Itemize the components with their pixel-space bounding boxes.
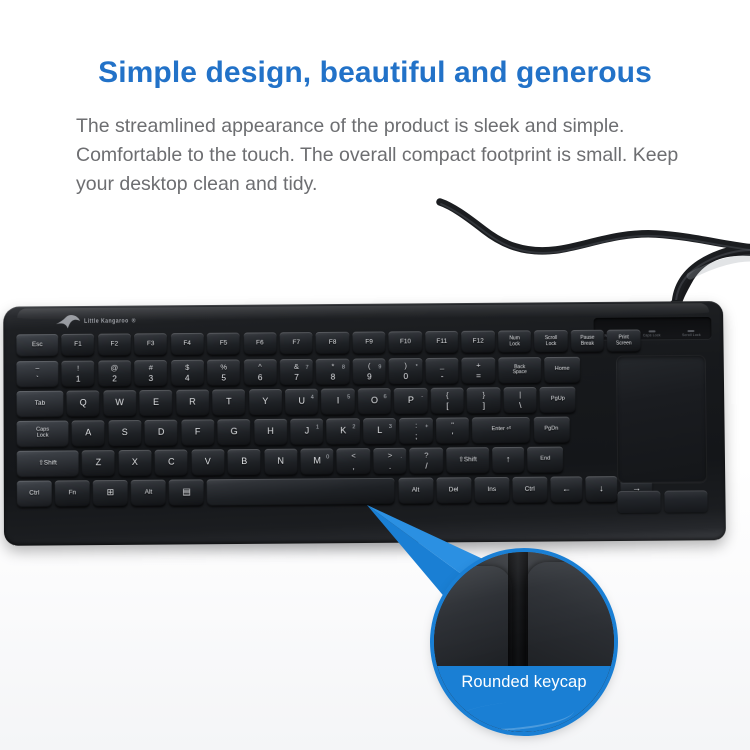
key-legend: Tab — [35, 401, 45, 408]
key-legend-upper: @ — [111, 365, 119, 373]
key-row-shift-row: ⇧ShiftZXCVBNM0<,>..?/⇧Shift↑End — [17, 446, 613, 478]
key-legend-lower: 1 — [76, 375, 81, 384]
key-4[interactable]: $4 — [171, 359, 204, 386]
key-ctrl[interactable]: Ctrl — [512, 476, 547, 503]
key-legend-upper: ? — [424, 452, 428, 460]
key-numpad-legend: 1 — [316, 425, 319, 431]
key-5[interactable]: %5 — [207, 359, 240, 386]
key-legend: V — [205, 458, 211, 467]
key-o[interactable]: O6 — [358, 388, 392, 415]
key-legend: Alt — [145, 489, 153, 496]
key-alt[interactable]: Alt — [398, 477, 433, 504]
brand-logo: Little Kangaroo ® — [55, 314, 136, 330]
key--[interactable]: _- — [425, 357, 459, 384]
key-legend: F2 — [111, 342, 119, 349]
key-pgup[interactable]: PgUp — [540, 386, 576, 413]
key-legend-upper: + — [476, 362, 481, 370]
key-legend: F5 — [220, 341, 228, 348]
key-s[interactable]: S — [108, 420, 141, 447]
key-enter-⏎[interactable]: Enter ⏎ — [472, 417, 530, 444]
key-legend-upper: $ — [185, 364, 189, 372]
key-legend-lower: 2 — [112, 374, 117, 383]
key-row-bottom-row: CtrlFn⊞Alt▤AltDelInsCtrl←↓→ — [17, 476, 613, 508]
key-legend-lower: \ — [519, 401, 521, 410]
led-indicator: Caps Lock — [643, 330, 661, 338]
key-legend: Home — [555, 367, 570, 373]
key-legend-upper: ) — [404, 363, 407, 371]
key-legend: K — [340, 427, 346, 436]
key-legend: ← — [562, 485, 571, 494]
key-legend: B — [241, 457, 247, 466]
key-row-number-row: ~`!1@2#3$4%5^6&77*88(99)0*_-+=Back Space… — [16, 356, 611, 388]
key-legend: PgDn — [544, 427, 558, 433]
page-body-text: The streamlined appearance of the produc… — [76, 112, 686, 199]
key-legend: N — [277, 457, 284, 466]
key-6[interactable]: ^6 — [243, 359, 276, 386]
key-legend: ▤ — [182, 488, 191, 497]
key-g[interactable]: G — [217, 419, 251, 446]
key-numpad-legend: 5 — [347, 395, 350, 401]
key-legend: M — [313, 457, 321, 466]
key-/[interactable]: ?/ — [410, 447, 444, 474]
key-legend: T — [226, 398, 232, 407]
key-legend: ↓ — [599, 485, 604, 494]
key-legend: Back Space — [513, 365, 527, 376]
magnifier-callout: Rounded keycap — [434, 552, 614, 732]
key-f8[interactable]: F8 — [316, 332, 349, 355]
key-numpad-legend: * — [416, 365, 418, 371]
key-legend: X — [132, 458, 138, 467]
key-print-screen[interactable]: Print Screen — [607, 329, 641, 352]
key-legend: F3 — [147, 341, 155, 348]
key-=[interactable]: += — [462, 357, 496, 384]
space-bar[interactable] — [207, 477, 395, 505]
key-legend-lower: 0 — [403, 372, 408, 381]
key-legend: F11 — [436, 339, 447, 346]
key-numpad-legend: 4 — [311, 395, 314, 401]
led-lamp-caps-lock — [648, 330, 655, 333]
key-legend-lower: 6 — [258, 373, 263, 382]
key-n[interactable]: N — [264, 448, 298, 475]
key-x[interactable]: X — [118, 449, 151, 476]
key-y[interactable]: Y — [249, 389, 283, 416]
key-legend: C — [168, 458, 175, 467]
key-numpad-legend: 6 — [384, 395, 387, 401]
key-←[interactable]: ← — [550, 476, 582, 503]
key-row-function-row: EscF1F2F3F4F5F6F7F8F9F10F11F12Num LockSc… — [16, 330, 611, 358]
key-legend: ⊞ — [107, 488, 115, 497]
led-indicator: Scroll Lock — [682, 329, 701, 337]
key-1[interactable]: !1 — [61, 360, 94, 387]
key-legend: Y — [262, 397, 268, 406]
keyboard-chassis: Little Kangaroo ® Num Lock Caps Lock — [3, 301, 726, 546]
key-i[interactable]: I5 — [321, 388, 355, 415]
key-del[interactable]: Del — [436, 477, 471, 504]
key-f4[interactable]: F4 — [170, 333, 203, 356]
key-legend: Ins — [487, 487, 496, 494]
key-legend: Del — [449, 487, 459, 494]
key-legend: Alt — [412, 487, 420, 494]
key-legend-upper: _ — [440, 362, 444, 370]
key-num-lock[interactable]: Num Lock — [498, 330, 532, 353]
key-legend-lower: ; — [415, 432, 417, 441]
key-q[interactable]: Q — [66, 390, 99, 417]
key-legend: D — [158, 428, 165, 437]
key-legend-lower: ` — [36, 375, 39, 384]
key-legend: PgUp — [551, 397, 565, 403]
key-f5[interactable]: F5 — [207, 333, 240, 356]
brand-name: Little Kangaroo — [84, 318, 129, 325]
key-f3[interactable]: F3 — [134, 333, 167, 356]
key-numpad-legend: 8 — [342, 365, 345, 371]
key-legend: L — [377, 426, 382, 435]
led-label-scroll-lock: Scroll Lock — [682, 333, 701, 337]
key-legend: Caps Lock — [36, 428, 49, 440]
key-alt[interactable]: Alt — [131, 479, 166, 506]
key-legend-upper: ~ — [35, 365, 39, 373]
key-legend: F6 — [256, 341, 264, 348]
key-a[interactable]: A — [72, 420, 105, 447]
key-numpad-legend: . — [401, 454, 403, 460]
key-legend: U — [298, 397, 305, 406]
key-][interactable]: }] — [467, 387, 501, 414]
key-legend: ⇧Shift — [38, 460, 56, 467]
key-f12[interactable]: F12 — [461, 331, 495, 354]
key-legend: Enter ⏎ — [492, 427, 512, 433]
key-f11[interactable]: F11 — [425, 331, 459, 354]
key-legend: G — [231, 428, 238, 437]
key-legend-upper: { — [446, 392, 449, 400]
key-b[interactable]: B — [227, 449, 261, 476]
key-0[interactable]: )0* — [389, 358, 423, 385]
key-legend: F — [195, 428, 201, 437]
key-legend-lower: / — [425, 462, 427, 471]
key-legend: F9 — [365, 340, 373, 347]
key-t[interactable]: T — [212, 389, 245, 416]
touchpad-zone — [612, 355, 712, 527]
key-legend: P — [408, 396, 414, 405]
key-legend-lower: 4 — [185, 374, 190, 383]
key-legend: R — [189, 398, 196, 407]
key-numpad-legend: + — [425, 424, 428, 430]
key-legend: Print Screen — [616, 336, 632, 347]
key-f2[interactable]: F2 — [98, 333, 131, 356]
key-legend-upper: | — [519, 392, 521, 400]
key-fn[interactable]: Fn — [55, 480, 90, 507]
key-legend-upper: > — [388, 452, 392, 460]
key-legend-lower: 7 — [294, 373, 299, 382]
key-legend: F7 — [293, 340, 301, 347]
brand-registered-mark: ® — [132, 318, 136, 325]
key-legend-lower: ' — [452, 431, 454, 440]
key-legend-upper: " — [451, 422, 454, 430]
key-legend-lower: . — [389, 462, 391, 471]
key-numpad-legend: 0 — [326, 455, 329, 461]
kangaroo-icon — [55, 314, 81, 329]
key-legend: O — [371, 397, 378, 406]
key-l[interactable]: L3 — [363, 418, 397, 445]
key-legend: → — [632, 484, 641, 493]
key-r[interactable]: R — [176, 389, 209, 416]
key-2[interactable]: @2 — [98, 360, 131, 387]
touchpad-left-button[interactable] — [617, 491, 660, 513]
key-legend: A — [85, 429, 91, 438]
key-legend-lower: 5 — [221, 373, 226, 382]
key-9[interactable]: (99 — [353, 358, 387, 385]
key-j[interactable]: J1 — [290, 418, 324, 445]
key-legend: Ctrl — [525, 486, 535, 493]
key-legend: ↑ — [506, 455, 511, 464]
key-d[interactable]: D — [144, 419, 177, 446]
led-label-caps-lock: Caps Lock — [643, 333, 661, 337]
key-numpad-legend: 3 — [389, 425, 392, 431]
key-legend: I — [337, 397, 340, 406]
key-u[interactable]: U4 — [285, 388, 319, 415]
key-legend: S — [122, 428, 128, 437]
key-e[interactable]: E — [139, 389, 172, 416]
key-legend: F12 — [473, 339, 484, 346]
key-legend-lower: 8 — [331, 373, 336, 382]
key-legend: ⇧Shift — [458, 457, 476, 464]
key-legend: J — [305, 427, 310, 436]
key-f[interactable]: F — [181, 419, 214, 446]
key-k[interactable]: K2 — [327, 418, 361, 445]
key-'[interactable]: "' — [436, 417, 470, 444]
key-\[interactable]: |\ — [503, 387, 537, 414]
key-f10[interactable]: F10 — [389, 331, 422, 354]
key-legend: Pause Break — [580, 336, 594, 347]
key-`[interactable]: ~` — [16, 360, 58, 387]
keyboard-product-photo: Little Kangaroo ® Num Lock Caps Lock — [4, 303, 726, 546]
band-swoosh-decoration — [451, 697, 575, 732]
key-back-space[interactable]: Back Space — [498, 357, 541, 384]
key-f9[interactable]: F9 — [352, 331, 385, 354]
key-matrix: EscF1F2F3F4F5F6F7F8F9F10F11F12Num LockSc… — [16, 330, 612, 511]
key-3[interactable]: #3 — [134, 360, 167, 387]
key-legend-upper: & — [294, 363, 299, 371]
key-legend: Z — [96, 459, 102, 468]
key-legend: Esc — [32, 342, 43, 349]
key-numpad-legend: 9 — [378, 365, 381, 371]
key-legend: Q — [80, 399, 87, 408]
callout-label-text: Rounded keycap — [461, 673, 586, 692]
key-numpad-legend: - — [421, 394, 423, 400]
key-legend-lower: 3 — [149, 374, 154, 383]
key-⇧shift[interactable]: ⇧Shift — [17, 450, 79, 477]
key-z[interactable]: Z — [82, 450, 115, 477]
key-legend-upper: ^ — [258, 364, 262, 372]
key-numpad-legend: 7 — [306, 365, 309, 371]
key-legend-upper: } — [482, 392, 485, 400]
touchpad[interactable] — [616, 355, 707, 483]
key-legend: F8 — [329, 340, 337, 347]
key-p[interactable]: P- — [394, 387, 428, 414]
key-end[interactable]: End — [527, 446, 563, 473]
key-legend: End — [540, 457, 550, 463]
key-menu-icon[interactable]: ▤ — [169, 479, 204, 506]
key-.[interactable]: >.. — [373, 447, 407, 474]
key-legend-lower: 9 — [367, 372, 372, 381]
key-legend-lower: , — [352, 462, 354, 471]
key-f1[interactable]: F1 — [61, 334, 94, 357]
key-v[interactable]: V — [191, 449, 225, 476]
key-legend: F1 — [74, 342, 82, 349]
key-c[interactable]: C — [155, 449, 188, 476]
key-w[interactable]: W — [103, 390, 136, 417]
led-lamp-scroll-lock — [688, 330, 695, 333]
key-legend: Ctrl — [29, 490, 39, 497]
key-;[interactable]: :;+ — [399, 417, 433, 444]
key-legend: Num Lock — [509, 337, 520, 348]
key-home[interactable]: Home — [544, 356, 580, 383]
key-legend: Scroll Lock — [545, 336, 558, 347]
key-legend-lower: ] — [483, 401, 485, 410]
key-numpad-legend: 2 — [352, 425, 355, 431]
key-legend-upper: ( — [368, 363, 371, 371]
key-↑[interactable]: ↑ — [492, 446, 524, 473]
key-legend-lower: = — [476, 371, 481, 380]
key-legend-upper: ! — [77, 365, 79, 373]
callout-label-band: Rounded keycap — [434, 666, 614, 732]
key-legend-lower: [ — [446, 402, 448, 411]
key-h[interactable]: H — [254, 418, 288, 445]
key-f6[interactable]: F6 — [243, 332, 276, 355]
key-legend: E — [153, 398, 159, 407]
product-feature-page: Simple design, beautiful and generous Th… — [0, 0, 750, 750]
key-legend: Fn — [69, 490, 77, 497]
key-legend: F10 — [400, 339, 411, 346]
key-8[interactable]: *88 — [316, 358, 350, 385]
key-legend-upper: < — [351, 453, 355, 461]
page-headline: Simple design, beautiful and generous — [0, 54, 750, 92]
key-[[interactable]: {[ — [431, 387, 465, 414]
key-ins[interactable]: Ins — [474, 477, 509, 504]
key-legend-upper: # — [149, 365, 153, 373]
key-caps-lock[interactable]: Caps Lock — [17, 420, 69, 447]
key-⇧shift[interactable]: ⇧Shift — [446, 447, 489, 474]
key-pgdn[interactable]: PgDn — [533, 416, 569, 443]
key-pause-break[interactable]: Pause Break — [571, 330, 605, 353]
key-ctrl[interactable]: Ctrl — [17, 480, 52, 507]
key-row-qwerty-row: TabQWERTYU4I5O6P-{[}]|\PgUp — [16, 386, 611, 418]
key-row-home-row: Caps LockASDFGHJ1K2L3:;+"'Enter ⏎PgDn — [17, 416, 612, 448]
key-legend-upper: : — [415, 422, 417, 430]
key-legend-upper: * — [331, 363, 334, 371]
key-tab[interactable]: Tab — [16, 390, 63, 417]
key-legend: W — [115, 399, 124, 408]
key-,[interactable]: <, — [337, 448, 371, 475]
key-m[interactable]: M0 — [300, 448, 334, 475]
key-windows-icon[interactable]: ⊞ — [93, 480, 128, 507]
key-legend-upper: % — [220, 364, 227, 372]
key-7[interactable]: &77 — [280, 358, 314, 385]
key-legend-lower: - — [441, 372, 444, 381]
key-f7[interactable]: F7 — [280, 332, 313, 355]
key-legend: F4 — [183, 341, 191, 348]
touchpad-right-button[interactable] — [664, 490, 707, 512]
key-esc[interactable]: Esc — [16, 334, 58, 357]
key-legend: H — [267, 427, 274, 436]
key-scroll-lock[interactable]: Scroll Lock — [534, 330, 568, 353]
